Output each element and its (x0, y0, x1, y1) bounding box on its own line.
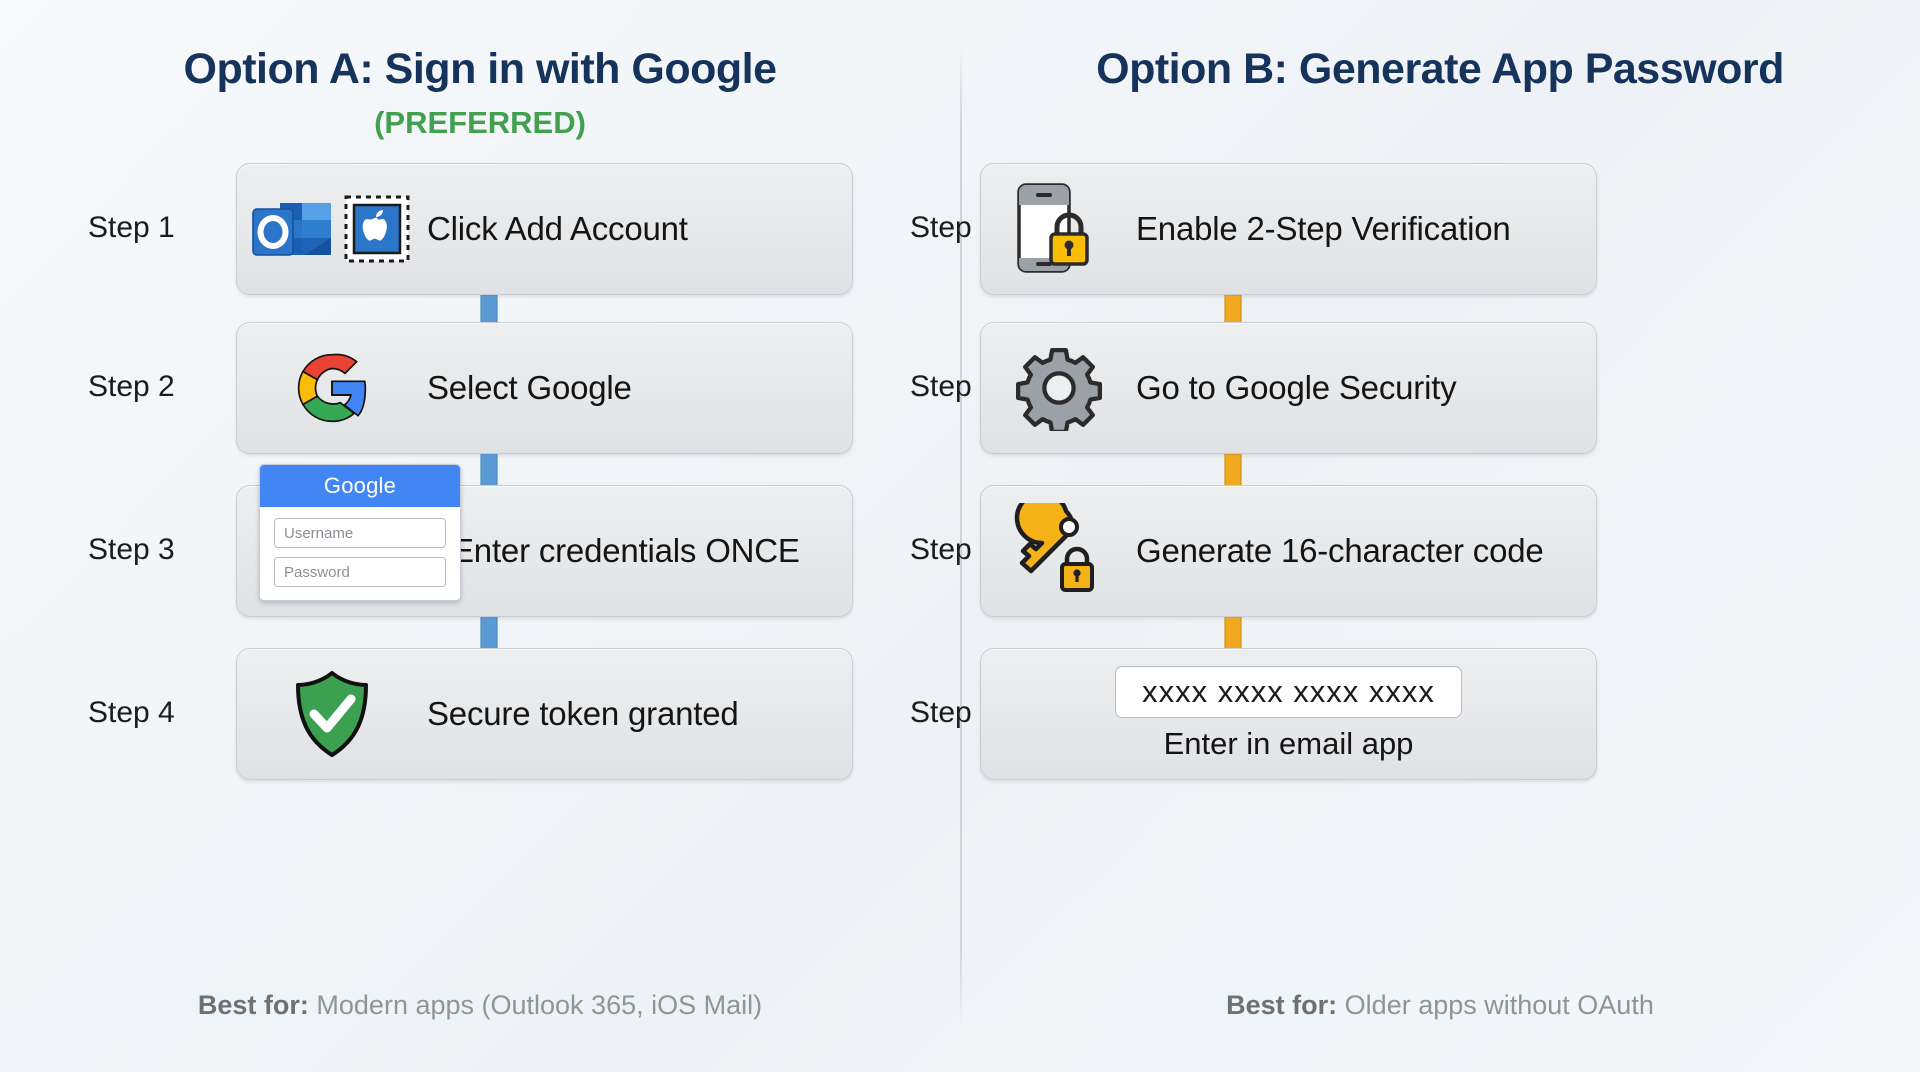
step-label: Step 4 (88, 696, 175, 730)
step-card[interactable]: Secure token granted (236, 648, 853, 780)
infographic-canvas: Option A: Sign in with Google (PREFERRED… (0, 0, 1920, 1072)
key-lock-icon (1009, 503, 1109, 599)
step-card[interactable]: Select Google (236, 322, 853, 454)
apple-mail-stamp-icon (340, 190, 414, 268)
footer-label: Best for: (1226, 990, 1337, 1020)
step-card[interactable]: xxxx xxxx xxxx xxxx Enter in email app (980, 648, 1597, 780)
option-b-column: Option B: Generate App Password Step 1 (960, 0, 1920, 1072)
step-1-icons (237, 164, 427, 294)
google-g-icon (292, 348, 372, 428)
option-a-step-1-row: Step 1 (0, 163, 960, 293)
step-text: Generate 16-character code (1136, 532, 1544, 570)
option-b-step-2-row: Step 2 Go to Google Security (960, 322, 1920, 452)
step-2-icons (237, 323, 427, 453)
step-3-icons: Google Username Password (237, 486, 452, 616)
outlook-icon (250, 193, 334, 265)
step-text: Enter credentials ONCE (452, 532, 800, 570)
step-text: Secure token granted (427, 695, 739, 733)
step-label: Step 3 (88, 533, 175, 567)
green-shield-check-icon (291, 668, 373, 760)
phone-lock-icon (1011, 179, 1107, 279)
google-login-header: Google (260, 465, 460, 507)
option-b-footer: Best for: Older apps without OAuth (960, 990, 1920, 1021)
option-b-step-1-row: Step 1 Enable 2-Step Verific (960, 163, 1920, 293)
step-2-icons (981, 323, 1136, 453)
google-login-body: Username Password (260, 507, 460, 600)
password-input[interactable]: Password (274, 557, 446, 587)
option-a-footer: Best for: Modern apps (Outlook 365, iOS … (0, 990, 960, 1021)
step-card[interactable]: Google Username Password Enter credentia… (236, 485, 853, 617)
app-password-code-box[interactable]: xxxx xxxx xxxx xxxx (1115, 666, 1462, 718)
step-card[interactable]: Click Add Account (236, 163, 853, 295)
footer-label: Best for: (198, 990, 309, 1020)
username-input[interactable]: Username (274, 518, 446, 548)
step-text: Go to Google Security (1136, 369, 1456, 407)
app-password-result: xxxx xxxx xxxx xxxx Enter in email app (981, 666, 1596, 762)
option-b-title: Option B: Generate App Password (960, 45, 1920, 94)
step-text: Select Google (427, 369, 632, 407)
google-login-form[interactable]: Google Username Password (259, 464, 461, 601)
option-a-step-2-row: Step 2 Select Google (0, 322, 960, 452)
footer-text: Older apps without OAuth (1337, 990, 1654, 1020)
step-3-icons (981, 486, 1136, 616)
step-card[interactable]: Generate 16-character code (980, 485, 1597, 617)
option-a-step-4-row: Step 4 Secure token granted (0, 648, 960, 778)
option-a-column: Option A: Sign in with Google (PREFERRED… (0, 0, 960, 1072)
option-a-subtitle: (PREFERRED) (0, 105, 960, 141)
step-text: Click Add Account (427, 210, 688, 248)
step-1-icons (981, 164, 1136, 294)
step-4-icons (237, 649, 427, 779)
step-card[interactable]: Enable 2-Step Verification (980, 163, 1597, 295)
gear-icon (1016, 345, 1102, 431)
step-label: Step 2 (88, 370, 175, 404)
option-a-step-3-row: Step 3 Google Username Password Enter cr… (0, 485, 960, 615)
footer-text: Modern apps (Outlook 365, iOS Mail) (309, 990, 762, 1020)
option-b-step-3-row: Step 3 Generate 16-character code (960, 485, 1920, 615)
step-text: Enable 2-Step Verification (1136, 210, 1511, 248)
step-text: Enter in email app (1164, 726, 1414, 762)
step-card[interactable]: Go to Google Security (980, 322, 1597, 454)
step-label: Step 1 (88, 211, 175, 245)
option-a-title: Option A: Sign in with Google (0, 45, 960, 94)
option-b-step-4-row: Step 4 xxxx xxxx xxxx xxxx Enter in emai… (960, 648, 1920, 778)
